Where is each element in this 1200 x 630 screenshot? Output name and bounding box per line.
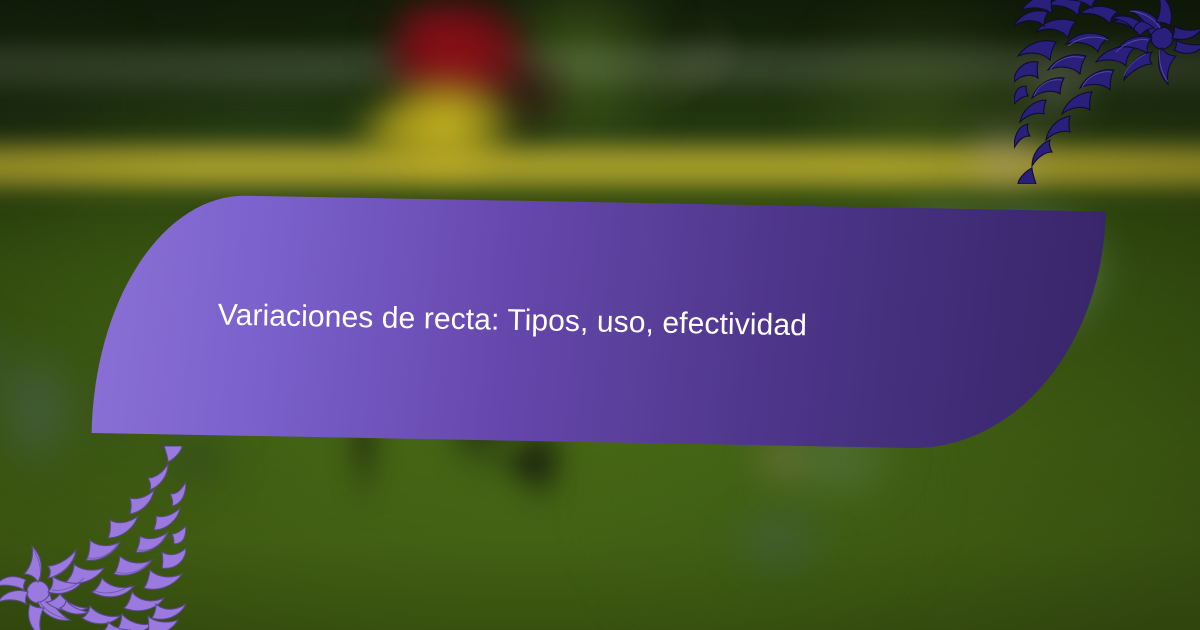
page-title: Variaciones de recta: Tipos, uso, efecti… — [217, 297, 1044, 350]
title-banner: Variaciones de recta: Tipos, uso, efecti… — [92, 193, 1106, 451]
title-banner-shape: Variaciones de recta: Tipos, uso, efecti… — [92, 193, 1106, 451]
social-card-canvas: Variaciones de recta: Tipos, uso, efecti… — [0, 0, 1200, 630]
